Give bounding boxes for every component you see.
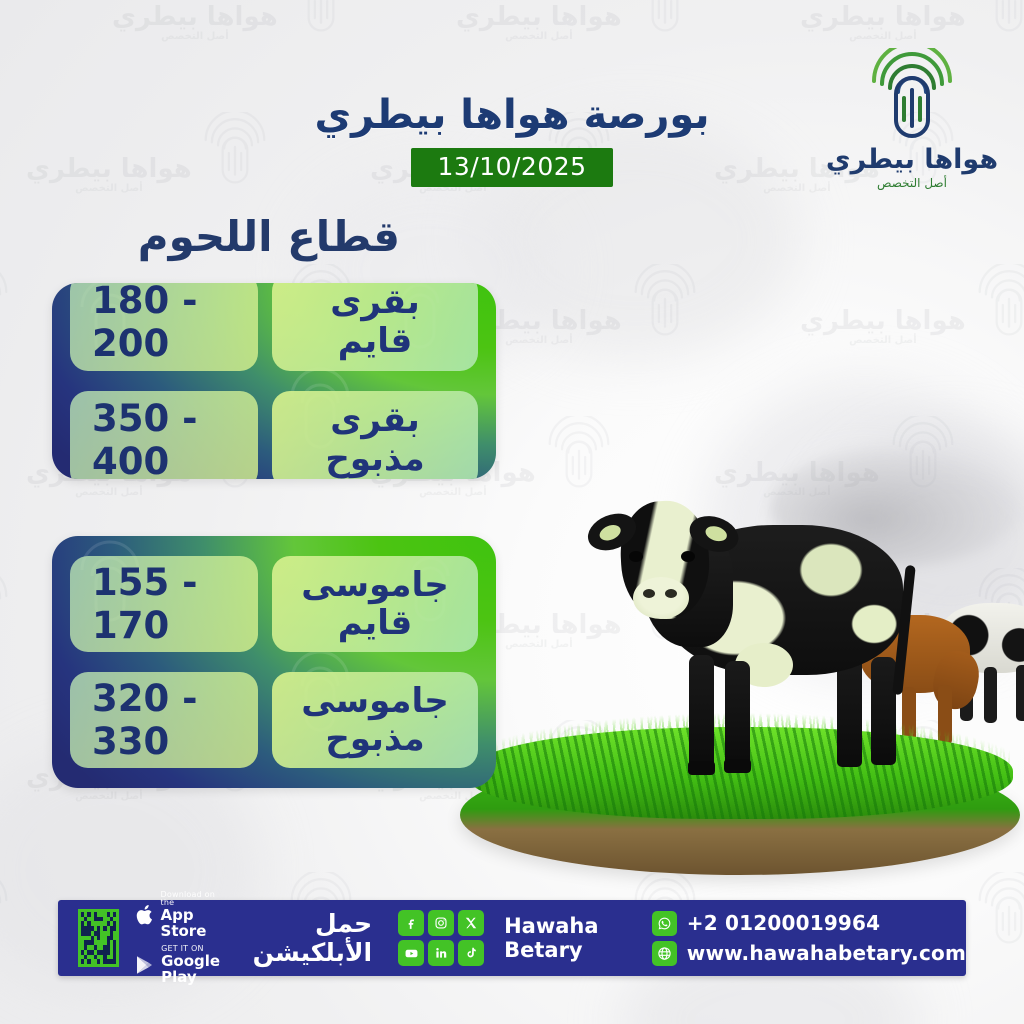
download-app-cta: حمل الأبلكيشن	[247, 909, 372, 967]
section-title: قطاع اللحوم	[138, 212, 400, 261]
price-row: بقرى قايم 180 - 200	[70, 283, 478, 371]
holstein-cow	[585, 465, 915, 765]
phone-number: +2 01200019964	[687, 911, 881, 935]
linkedin-icon[interactable]	[428, 940, 454, 966]
app-store-label: App Store	[161, 907, 226, 939]
watermark-text: هواها بيطريأصل التخصص	[800, 4, 966, 42]
poster-canvas: هواها بيطريأصل التخصصهواها بيطريأصل التخ…	[0, 0, 1024, 1024]
tiktok-icon[interactable]	[458, 940, 484, 966]
phone-contact[interactable]: +2 01200019964	[652, 911, 966, 936]
price-row: بقرى مذبوح 350 - 400	[70, 391, 478, 479]
app-store-badges: Download on the App Store GET IT ON Goog…	[135, 891, 225, 985]
apple-icon	[135, 905, 153, 925]
watermark-text: هواها بيطريأصل التخصص	[800, 308, 966, 346]
watermark-logo-icon	[284, 0, 358, 36]
footer-bar: Download on the App Store GET IT ON Goog…	[58, 900, 966, 976]
cow-photo	[440, 455, 1024, 885]
page-title: بورصة هواها بيطري	[0, 92, 1024, 138]
price-row-label: بقرى مذبوح	[272, 391, 478, 479]
google-play-button[interactable]: GET IT ON Google Play	[135, 945, 225, 985]
price-row-label: جاموسى مذبوح	[272, 672, 478, 768]
contact-info: +2 01200019964 www.hawahabetary.com	[652, 911, 966, 966]
price-row-value: 320 - 330	[70, 672, 258, 768]
facebook-icon[interactable]	[398, 910, 424, 936]
date-badge: 13/10/2025	[411, 148, 612, 187]
watermark-text: هواها بيطريأصل التخصص	[112, 4, 278, 42]
social-links	[398, 910, 484, 966]
qr-code[interactable]	[78, 909, 119, 967]
watermark-logo-icon	[0, 568, 14, 644]
brand-name: Hawaha Betary	[504, 914, 626, 962]
watermark-logo-icon	[972, 264, 1024, 340]
watermark-logo-icon	[0, 872, 14, 948]
header: بورصة هواها بيطري 13/10/2025	[0, 92, 1024, 187]
website-contact[interactable]: www.hawahabetary.com	[652, 941, 966, 966]
price-row: جاموسى قايم 155 - 170	[70, 556, 478, 652]
instagram-icon[interactable]	[428, 910, 454, 936]
price-row: جاموسى مذبوح 320 - 330	[70, 672, 478, 768]
watermark-text: هواها بيطريأصل التخصص	[456, 4, 622, 42]
watermark-logo-icon	[972, 0, 1024, 36]
google-play-small-label: GET IT ON	[161, 945, 225, 953]
google-play-label: Google Play	[161, 953, 225, 985]
watermark-logo-icon	[628, 264, 702, 340]
price-row-value: 180 - 200	[70, 283, 258, 371]
google-play-icon	[135, 955, 154, 975]
price-card-buffalo: جاموسى قايم 155 - 170 جاموسى مذبوح 320 -…	[52, 536, 496, 788]
x-twitter-icon[interactable]	[458, 910, 484, 936]
website-url: www.hawahabetary.com	[687, 941, 966, 965]
price-card-cattle: بقرى قايم 180 - 200 بقرى مذبوح 350 - 400	[52, 283, 496, 479]
whatsapp-icon	[652, 911, 677, 936]
app-store-button[interactable]: Download on the App Store	[135, 891, 225, 939]
qr-module	[113, 959, 116, 964]
globe-icon	[652, 941, 677, 966]
app-store-small-label: Download on the	[161, 891, 226, 907]
price-row-value: 155 - 170	[70, 556, 258, 652]
watermark-logo-icon	[0, 0, 14, 36]
youtube-icon[interactable]	[398, 940, 424, 966]
price-row-value: 350 - 400	[70, 391, 258, 479]
watermark-logo-icon	[628, 0, 702, 36]
watermark-logo-icon	[0, 264, 14, 340]
price-row-label: بقرى قايم	[272, 283, 478, 371]
price-row-label: جاموسى قايم	[272, 556, 478, 652]
